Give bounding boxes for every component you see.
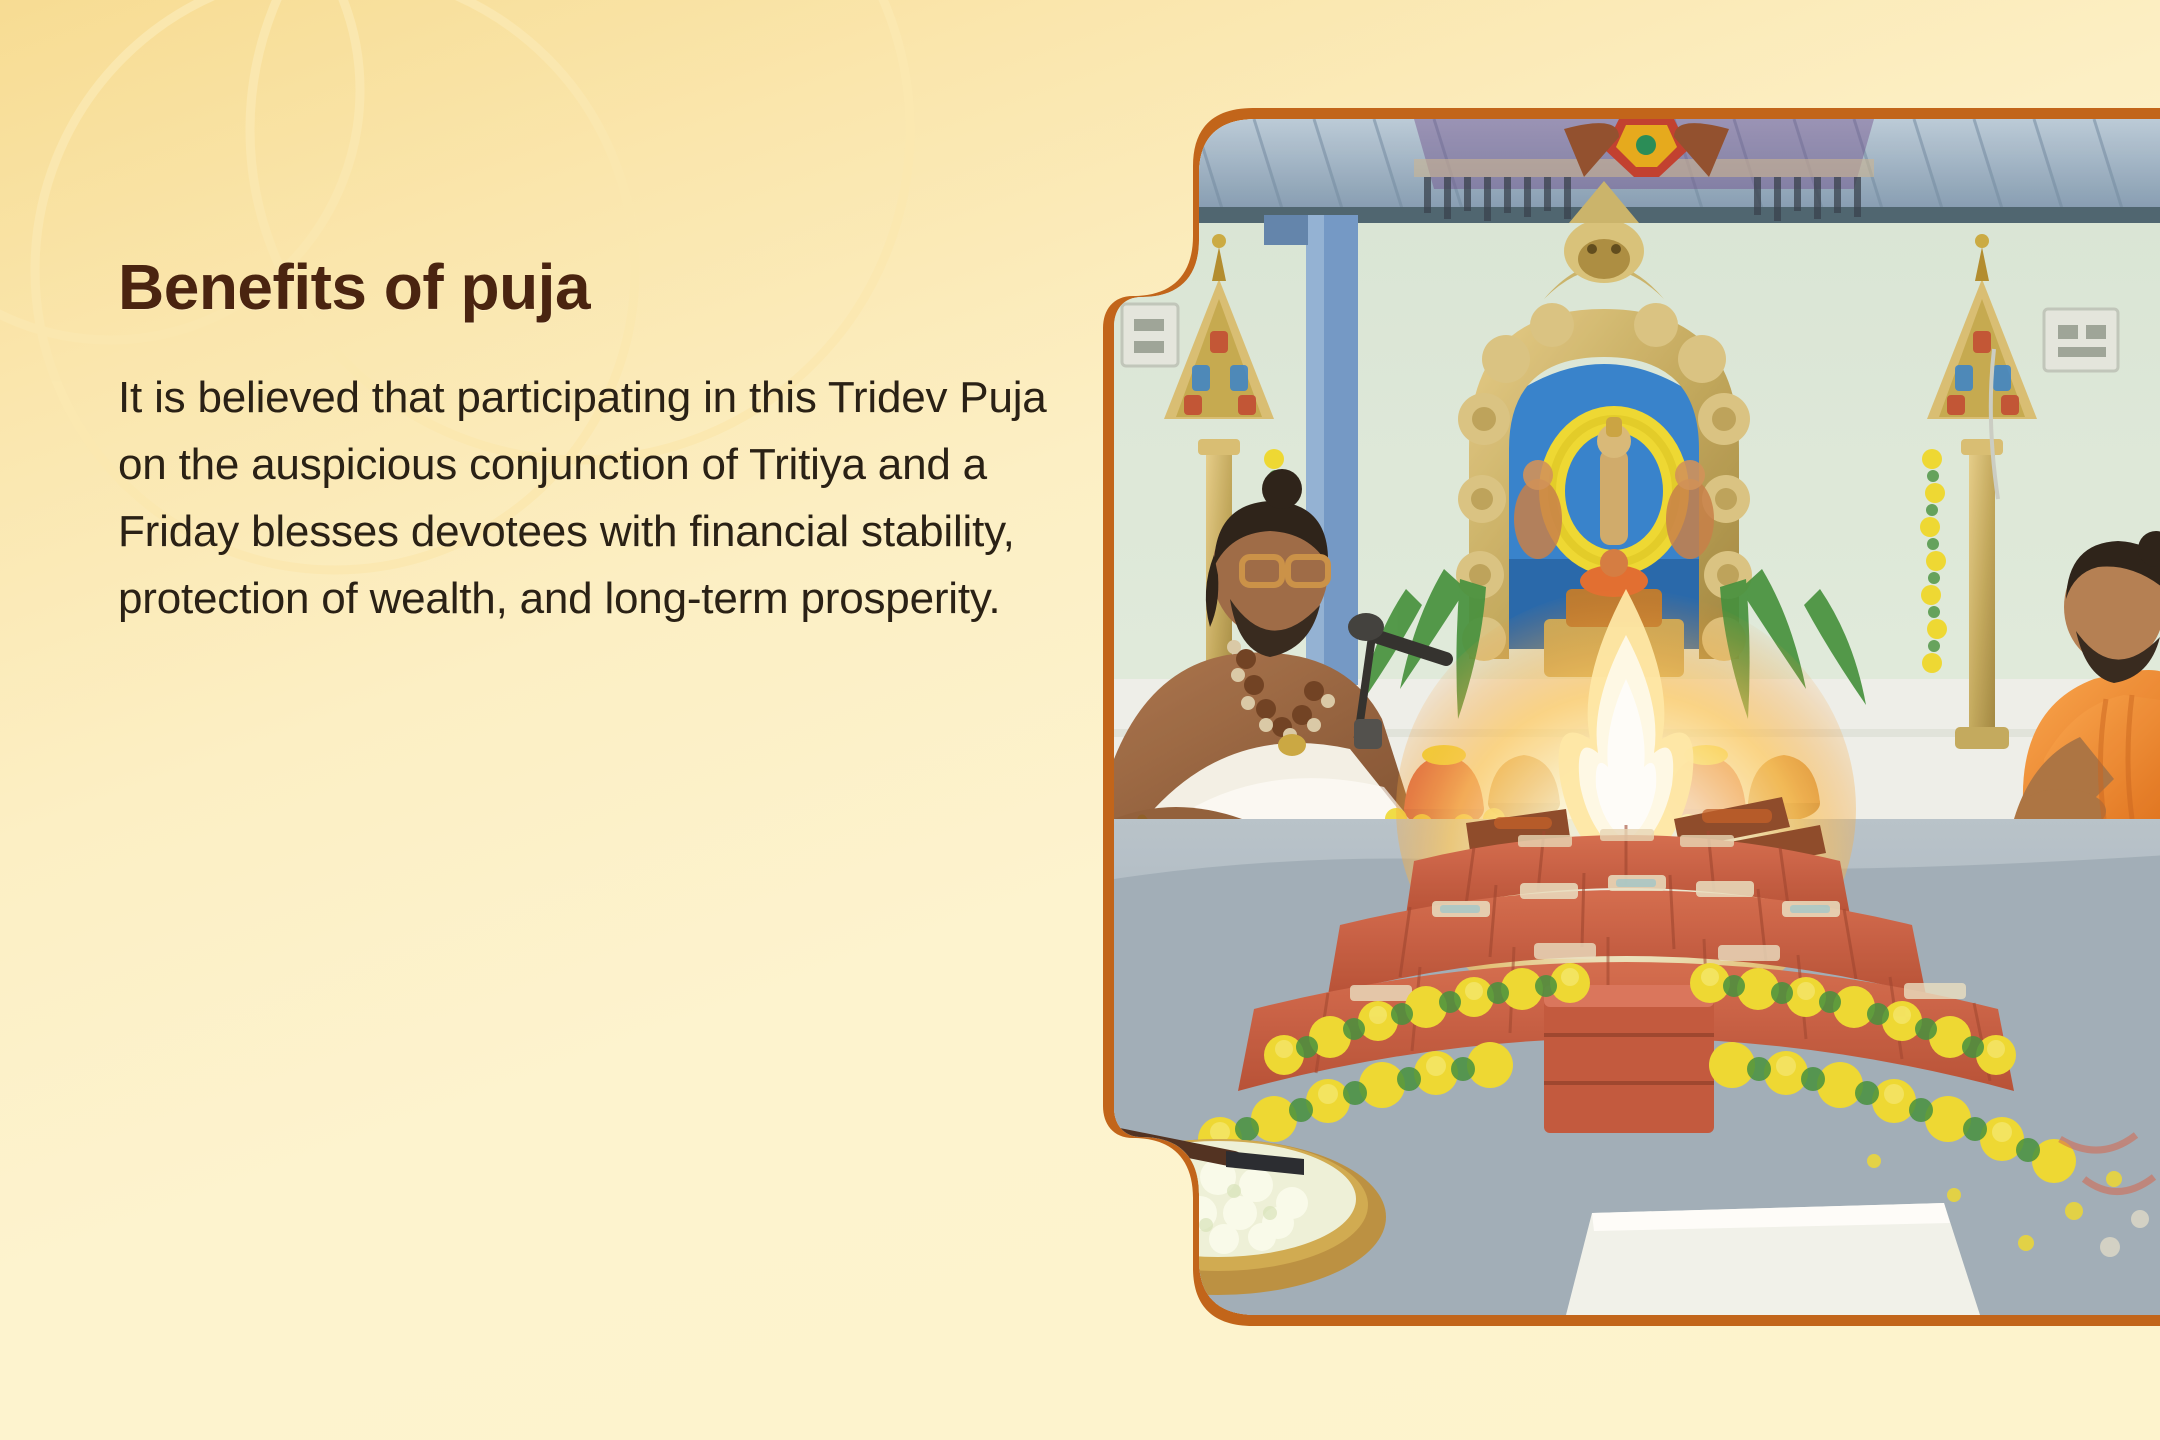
text-column: Benefits of puja It is believed that par… [118,255,1058,633]
photo-frame [1103,108,2160,1326]
puja-photo [1114,119,2160,1315]
body-paragraph: It is believed that participating in thi… [118,365,1048,633]
puja-photo-svg [1114,119,2160,1315]
page-title: Benefits of puja [118,255,1058,319]
photo-clip [1114,119,2160,1315]
